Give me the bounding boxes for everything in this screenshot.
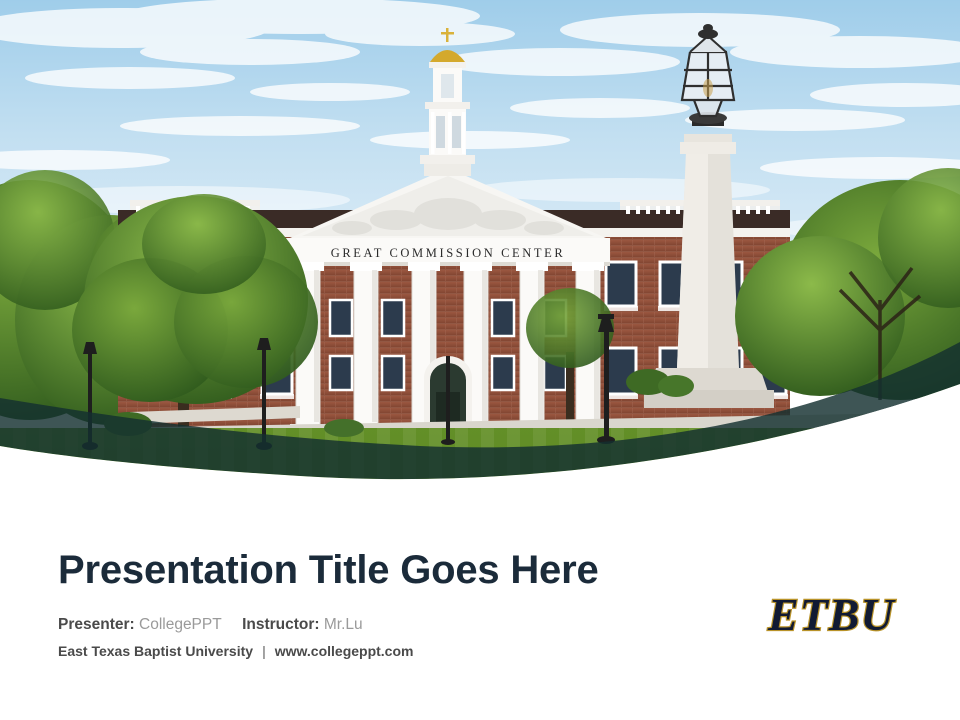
- university-name: East Texas Baptist University: [58, 643, 253, 659]
- hero-photo-banner: GREAT COMMISSION CENTER: [0, 0, 960, 500]
- page-title: Presentation Title Goes Here: [58, 548, 698, 593]
- website-link[interactable]: www.collegeppt.com: [275, 643, 414, 659]
- instructor-label: Instructor:: [242, 616, 320, 633]
- etbu-logo-text: ETBU: [767, 589, 896, 640]
- separator-pipe: |: [257, 643, 271, 659]
- building-sign-text: GREAT COMMISSION CENTER: [331, 246, 566, 260]
- presenter-value: CollegePPT: [139, 616, 221, 633]
- campus-photograph: GREAT COMMISSION CENTER: [0, 0, 960, 500]
- instructor-value: Mr.Lu: [324, 616, 363, 633]
- etbu-logo-mark: ETBU: [762, 586, 922, 644]
- presenter-label: Presenter:: [58, 616, 135, 633]
- presentation-slide: GREAT COMMISSION CENTER: [0, 0, 960, 720]
- presenter-line: Presenter: CollegePPT Instructor: Mr.Lu: [58, 614, 698, 636]
- affiliation-line: East Texas Baptist University | www.coll…: [58, 641, 698, 661]
- etbu-logo: ETBU: [762, 586, 922, 644]
- slide-text-block: Presentation Title Goes Here Presenter: …: [58, 548, 698, 662]
